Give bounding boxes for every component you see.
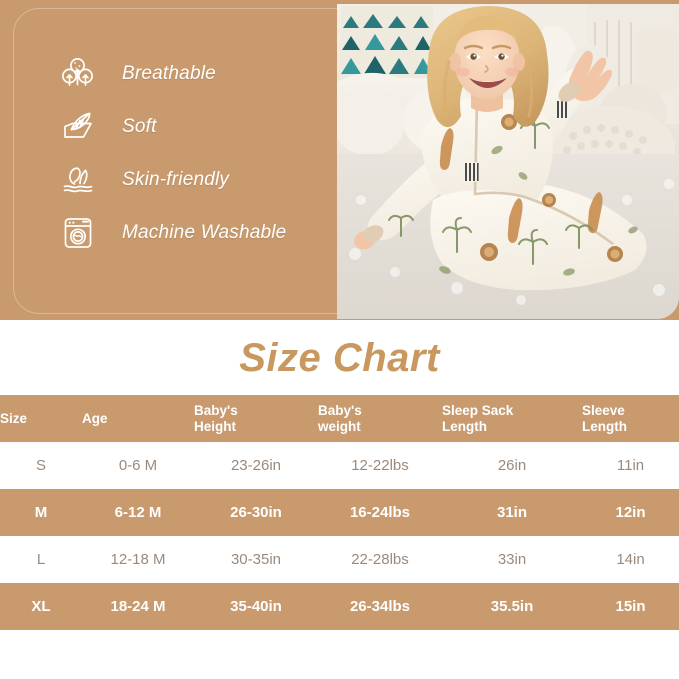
column-header-age: Age (82, 395, 194, 442)
cell-size: L (0, 536, 82, 583)
table-row: M 6-12 M 26-30in 16-24lbs 31in 12in (0, 489, 679, 536)
column-header-sleeve-length: Sleeve Length (582, 395, 679, 442)
table-body: S 0-6 M 23-26in 12-22lbs 26in 11in M 6-1… (0, 442, 679, 630)
cell-size: S (0, 442, 82, 489)
cell-size: M (0, 489, 82, 536)
cell-sleeve-length: 14in (582, 536, 679, 583)
table-row: S 0-6 M 23-26in 12-22lbs 26in 11in (0, 442, 679, 489)
cell-weight: 22-28lbs (318, 536, 442, 583)
cell-sack-length: 26in (442, 442, 582, 489)
cell-age: 18-24 M (82, 583, 194, 630)
cell-height: 35-40in (194, 583, 318, 630)
feather-soft-icon (56, 105, 100, 149)
column-header-line1: Size (0, 411, 27, 426)
feature-item-machine-washable: Machine Washable (56, 207, 316, 259)
washing-machine-icon (56, 211, 100, 255)
cell-height: 30-35in (194, 536, 318, 583)
feature-label: Machine Washable (122, 222, 286, 244)
table-row: XL 18-24 M 35-40in 26-34lbs 35.5in 15in (0, 583, 679, 630)
column-header-line2: Height (194, 419, 236, 434)
column-header-line1: Age (82, 411, 108, 426)
column-header-line1: Baby's (194, 403, 238, 418)
size-chart-table: Size Age Baby's Height Baby's weight Sle… (0, 395, 679, 630)
product-photo (337, 4, 679, 319)
cell-age: 12-18 M (82, 536, 194, 583)
feature-item-skin-friendly: Skin-friendly (56, 154, 316, 206)
cell-age: 0-6 M (82, 442, 194, 489)
feature-item-soft: Soft (56, 101, 316, 153)
feature-list: Breathable Soft (56, 48, 316, 260)
column-header-line2: weight (318, 419, 361, 434)
cell-sack-length: 35.5in (442, 583, 582, 630)
cell-sleeve-length: 12in (582, 489, 679, 536)
cell-height: 23-26in (194, 442, 318, 489)
feature-label: Skin-friendly (122, 169, 229, 191)
hero-panel: Breathable Soft (0, 0, 679, 320)
cell-weight: 26-34lbs (318, 583, 442, 630)
table-header: Size Age Baby's Height Baby's weight Sle… (0, 395, 679, 442)
column-header-line1: Sleep Sack (442, 403, 513, 418)
cell-sleeve-length: 11in (582, 442, 679, 489)
column-header-sleep-sack-length: Sleep Sack Length (442, 395, 582, 442)
column-header-line2: Length (442, 419, 487, 434)
cell-weight: 16-24lbs (318, 489, 442, 536)
cotton-breathable-icon (56, 52, 100, 96)
column-header-line2: Length (582, 419, 627, 434)
page-title: Size Chart (0, 336, 679, 381)
table-row: L 12-18 M 30-35in 22-28lbs 33in 14in (0, 536, 679, 583)
cell-age: 6-12 M (82, 489, 194, 536)
product-infographic: Breathable Soft (0, 0, 679, 679)
cell-weight: 12-22lbs (318, 442, 442, 489)
feature-item-breathable: Breathable (56, 48, 316, 100)
cell-sack-length: 33in (442, 536, 582, 583)
cell-sleeve-length: 15in (582, 583, 679, 630)
feature-label: Breathable (122, 63, 216, 85)
table-header-row: Size Age Baby's Height Baby's weight Sle… (0, 395, 679, 442)
column-header-line1: Sleeve (582, 403, 625, 418)
hand-fabric-skin-friendly-icon (56, 158, 100, 202)
column-header-line1: Baby's (318, 403, 362, 418)
cell-size: XL (0, 583, 82, 630)
column-header-baby-weight: Baby's weight (318, 395, 442, 442)
column-header-baby-height: Baby's Height (194, 395, 318, 442)
feature-label: Soft (122, 116, 157, 138)
column-header-size: Size (0, 395, 82, 442)
cell-sack-length: 31in (442, 489, 582, 536)
cell-height: 26-30in (194, 489, 318, 536)
